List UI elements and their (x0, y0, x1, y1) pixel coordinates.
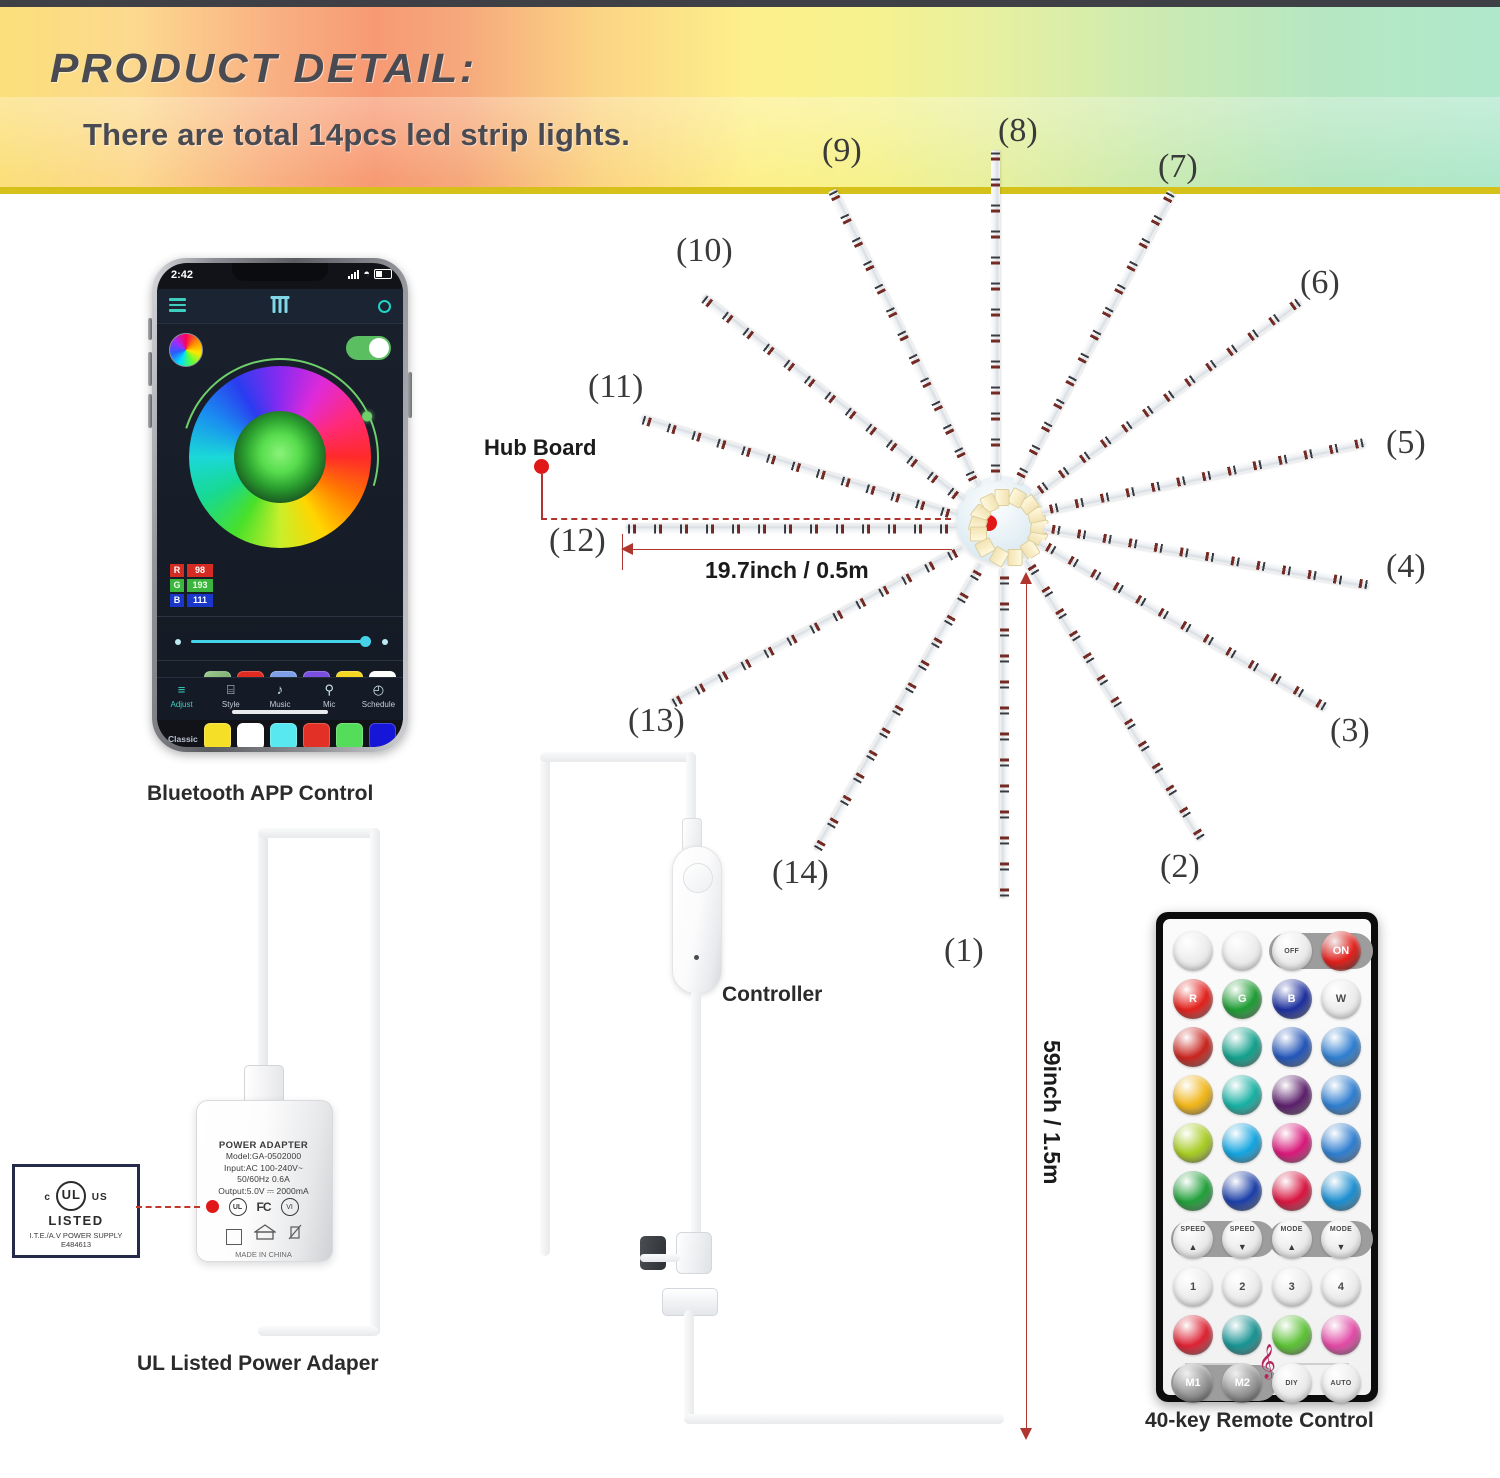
led-strip-11 (640, 415, 958, 520)
adapter-made-in: MADE IN CHINA (196, 1250, 331, 1259)
tab-label: Music (255, 700, 304, 709)
rgb-row-green: G 193 (170, 579, 213, 592)
button-label: B (1288, 993, 1296, 1005)
dim-short-label: 19.7inch / 0.5m (705, 557, 869, 584)
adapter-output: Output:5.0V ⎓ 2000mA (196, 1186, 331, 1198)
remote-caption: 40-key Remote Control (1145, 1409, 1374, 1433)
sliders-icon[interactable] (273, 296, 288, 313)
arrow-down-icon: ▼ (1321, 1242, 1361, 1252)
ul-badge-mark: c UL US (15, 1181, 137, 1211)
button-label: AUTO (1331, 1380, 1352, 1387)
effect-strobe-button[interactable] (1222, 1315, 1262, 1355)
hub-callout-line-h (541, 518, 951, 520)
remote-row-3 (1173, 1027, 1361, 1067)
remote-button-grid: OFFONRGBWSPEED▲SPEED▼MODE▲MODE▼1234M1M2D… (1173, 931, 1361, 1403)
rgb-row-blue: B 111 (170, 594, 213, 607)
music-mode-4-button[interactable]: 4 (1321, 1267, 1361, 1307)
color-blue2-button[interactable] (1272, 1027, 1312, 1067)
signal-icon (348, 270, 359, 279)
list-icon[interactable] (169, 298, 186, 315)
button-label: SPEED (1173, 1226, 1213, 1233)
divider (157, 660, 403, 661)
fcc-mark-icon: FC (257, 1200, 271, 1214)
color-cyan-button[interactable] (1222, 1123, 1262, 1163)
classic-label: Classic (168, 734, 198, 744)
controller-wire-left (540, 756, 550, 1256)
color-wheel-picker[interactable] (189, 366, 371, 548)
battery-icon (374, 269, 392, 279)
button-label: DIY (1285, 1380, 1298, 1387)
phone-caption: Bluetooth APP Control (147, 782, 373, 806)
ul-badge-callout-line (136, 1206, 200, 1208)
on-button[interactable]: ON (1321, 931, 1361, 971)
page-title: PRODUCT DETAIL: (50, 45, 477, 92)
product-detail-infographic: PRODUCT DETAIL: There are total 14pcs le… (0, 0, 1500, 1478)
hub-pad-1 (1008, 549, 1023, 566)
phone-notch (232, 263, 328, 281)
controller-wire-stub (640, 1254, 680, 1262)
brightness-slider[interactable] (191, 640, 369, 643)
ul-badge-ul: UL (56, 1181, 86, 1211)
adapter-cord-top (258, 828, 378, 838)
classic-swatch-6[interactable] (369, 723, 396, 747)
brightness-low-icon (171, 635, 185, 649)
diy-button[interactable]: DIY (1272, 1363, 1312, 1403)
remote-row-5 (1173, 1123, 1361, 1163)
dim-long-label: 59inch / 1.5m (1038, 1040, 1065, 1184)
led-strip-4 (1043, 523, 1370, 589)
inline-controller[interactable] (672, 846, 722, 994)
no-bin-icon (288, 1224, 302, 1245)
led-strip-14 (813, 563, 986, 853)
effect-smooth-button[interactable] (1321, 1315, 1361, 1355)
led-strip-9 (828, 188, 981, 489)
classic-swatch-4[interactable] (303, 723, 330, 747)
controller-wire-bottom (691, 990, 701, 1238)
strip-label-3: (3) (1330, 712, 1370, 750)
brightness-slider-row (157, 624, 403, 658)
phone-screen: 2:42 ◓ (157, 263, 403, 747)
adapter-cord-vertical (258, 832, 268, 1072)
button-label: 4 (1338, 1281, 1344, 1293)
page-subtitle: There are total 14pcs led strip lights. (83, 117, 630, 153)
phone-power-button (408, 372, 412, 418)
tab-label: Style (206, 700, 255, 709)
app-top-bar (157, 289, 403, 324)
status-time: 2:42 (171, 269, 193, 281)
music-mode-1-button[interactable]: 1 (1173, 1267, 1213, 1307)
blue-down-button[interactable] (1321, 1171, 1361, 1211)
arrow-down-icon: ▼ (1222, 1242, 1262, 1252)
green-up-button[interactable] (1321, 1075, 1361, 1115)
button-label: 3 (1289, 1281, 1295, 1293)
strip-label-9: (9) (822, 132, 862, 170)
rgb-readout: R 98 G 193 B 111 (170, 564, 213, 609)
home-indicator (232, 710, 328, 714)
music-note-icon: ♪ (255, 682, 304, 698)
classic-swatch-2[interactable] (237, 723, 264, 747)
tab-schedule[interactable]: ◴Schedule (354, 678, 403, 720)
strip-label-2: (2) (1160, 848, 1200, 886)
color-teal-button[interactable] (1222, 1027, 1262, 1067)
adapter-label-text: POWER ADAPTER Model:GA-0502000 Input:AC … (196, 1140, 331, 1197)
strip-label-14: (14) (772, 854, 829, 892)
red-button[interactable]: R (1173, 979, 1213, 1019)
strip-label-4: (4) (1386, 548, 1426, 586)
arrow-up-icon: ▲ (1173, 1242, 1213, 1252)
color-pink-button[interactable] (1272, 1171, 1312, 1211)
ul-badge-line3: I.T.E./A.V POWER SUPPLY (15, 1231, 137, 1240)
dim-long-line (1026, 578, 1027, 1438)
color-yellowgreen-button[interactable] (1173, 1123, 1213, 1163)
adapter-input-2: 50/60Hz 0.6A (196, 1174, 331, 1186)
dim-short-arrow (621, 543, 633, 555)
button-label: R (1189, 993, 1197, 1005)
effect-flash-button[interactable] (1173, 1315, 1213, 1355)
hub-board-label: Hub Board (484, 435, 596, 461)
app-body: R 98 G 193 B 111 (157, 324, 403, 720)
controller-wire-tail (684, 1310, 694, 1422)
speed-up-button[interactable]: SPEED▲ (1173, 1219, 1213, 1259)
controller-caption: Controller (722, 983, 822, 1007)
button-label: 2 (1239, 1281, 1245, 1293)
strip-label-11: (11) (588, 368, 643, 406)
class2-square-icon (226, 1229, 242, 1245)
rgb-b-key: B (170, 594, 184, 607)
effect-fade-button[interactable] (1272, 1315, 1312, 1355)
button-label: SPEED (1222, 1226, 1262, 1233)
ul-badge-listed: LISTED (15, 1213, 137, 1228)
red-up-button[interactable] (1321, 1027, 1361, 1067)
blue-button[interactable]: B (1272, 979, 1312, 1019)
led-strip-7 (1013, 190, 1176, 486)
ul-mark-icon: UL (229, 1198, 247, 1216)
tab-label: Mic (305, 700, 354, 709)
grid-icon: ⌸ (206, 682, 255, 698)
sliders-icon: ≡ (157, 682, 206, 698)
rgb-r-value: 98 (187, 564, 213, 577)
controller-power-button[interactable] (683, 863, 713, 893)
music-mode-3-button[interactable]: 3 (1272, 1267, 1312, 1307)
classic-swatch-1[interactable] (204, 723, 231, 747)
button-label: 1 (1190, 1281, 1196, 1293)
ir-remote-control: OFFONRGBWSPEED▲SPEED▼MODE▲MODE▼1234M1M2D… (1156, 912, 1378, 1402)
tab-label: Schedule (354, 700, 403, 709)
led-strip-2 (1023, 557, 1206, 842)
green-button[interactable]: G (1222, 979, 1262, 1019)
rgb-b-value: 111 (187, 594, 213, 607)
button-label: W (1336, 993, 1346, 1005)
tab-label: Adjust (157, 700, 206, 709)
adapter-model: Model:GA-0502000 (196, 1151, 331, 1163)
strip-label-6: (6) (1300, 264, 1340, 302)
microphone-icon: ⚲ (305, 682, 354, 698)
dc-plug-male (640, 1236, 666, 1270)
ul-badge-c: c (44, 1192, 51, 1203)
rgb-r-key: R (170, 564, 184, 577)
color-red2-button[interactable] (1173, 1027, 1213, 1067)
divider (157, 616, 403, 617)
mode-down-button[interactable]: MODE▼ (1321, 1219, 1361, 1259)
strip-label-8: (8) (998, 112, 1038, 150)
strip-label-12: (12) (549, 522, 606, 560)
memory-1-button[interactable]: M1 (1173, 1363, 1213, 1403)
white-button[interactable]: W (1321, 979, 1361, 1019)
off-button[interactable]: OFF (1272, 931, 1312, 971)
dc-jack-female (676, 1232, 712, 1274)
led-strip-1 (1000, 569, 1009, 899)
button-label: M2 (1235, 1377, 1250, 1389)
color-green2-button[interactable] (1173, 1171, 1213, 1211)
remote-row-2: RGBW (1173, 979, 1361, 1019)
current-color-preview (234, 411, 327, 504)
rgb-g-value: 193 (187, 579, 213, 592)
house-icon (254, 1224, 276, 1245)
strip-label-13: (13) (628, 702, 685, 740)
remote-row-1: OFFON (1173, 931, 1361, 971)
mode-up-button[interactable]: MODE▲ (1272, 1219, 1312, 1259)
controller-led-indicator (694, 955, 699, 960)
brightness-high-icon (378, 635, 392, 649)
wifi-icon: ◓ (363, 270, 370, 279)
rgb-g-key: G (170, 579, 184, 592)
power-dot-icon[interactable] (378, 300, 391, 313)
remote-row-8: 1234 (1173, 1267, 1361, 1307)
strip-label-10: (10) (676, 232, 733, 270)
strip-label-7: (7) (1158, 148, 1198, 186)
brightness-slider-knob[interactable] (360, 636, 371, 647)
button-label: G (1238, 993, 1247, 1005)
color-magenta-button[interactable] (1272, 1123, 1312, 1163)
remote-row-4 (1173, 1075, 1361, 1115)
remote-face: OFFONRGBWSPEED▲SPEED▼MODE▲MODE▼1234M1M2D… (1163, 919, 1371, 1395)
tab-adjust[interactable]: ≡Adjust (157, 678, 206, 720)
led-strip-12 (626, 525, 956, 534)
brightness-up-button[interactable] (1173, 931, 1213, 971)
ul-listed-badge: c UL US LISTED I.T.E./A.V POWER SUPPLY E… (12, 1164, 140, 1258)
color-blue3-button[interactable] (1222, 1171, 1262, 1211)
ul-badge-line4: E484613 (15, 1240, 137, 1249)
auto-button[interactable]: AUTO (1321, 1363, 1361, 1403)
hub-callout-dot (534, 459, 549, 474)
button-label: M1 (1185, 1377, 1200, 1389)
button-label: MODE (1272, 1226, 1312, 1233)
color-teal2-button[interactable] (1222, 1075, 1262, 1115)
led-strip-8 (991, 151, 1000, 481)
controller-wire-top (540, 752, 695, 762)
color-orange-button[interactable] (1173, 1075, 1213, 1115)
remote-row-6 (1173, 1171, 1361, 1211)
ul-badge-us: US (92, 1192, 108, 1203)
classic-swatch-5[interactable] (336, 723, 363, 747)
adapter-title: POWER ADAPTER (196, 1140, 331, 1151)
dim-long-arrow-top (1020, 572, 1032, 584)
dim-long-arrow-bottom (1020, 1428, 1032, 1440)
color-wheel-icon[interactable] (169, 333, 203, 367)
brightness-down-button[interactable] (1222, 931, 1262, 971)
ul-badge-callout-dot (206, 1200, 219, 1213)
efficiency-level-icon: VI (281, 1198, 299, 1216)
adapter-caption: UL Listed Power Adaper (137, 1352, 379, 1376)
blue-up-button[interactable] (1321, 1123, 1361, 1163)
rgb-row-red: R 98 (170, 564, 213, 577)
hub-board (956, 476, 1044, 564)
button-label: ON (1333, 945, 1350, 957)
clock-icon: ◴ (354, 682, 403, 698)
strip-label-1: (1) (944, 932, 984, 970)
strip-label-5: (5) (1386, 424, 1426, 462)
smartphone-mockup: 2:42 ◓ (152, 258, 408, 752)
controller-wire-to-hub (684, 1414, 1004, 1424)
adapter-cord-bottom (258, 1326, 378, 1336)
classic-swatch-3[interactable] (270, 723, 297, 747)
classic-swatch-row (204, 723, 396, 747)
adapter-input-1: Input:AC 100-240V~ (196, 1163, 331, 1175)
button-label: MODE (1321, 1226, 1361, 1233)
status-icons: ◓ (348, 269, 392, 279)
remote-row-7: SPEED▲SPEED▼MODE▲MODE▼ (1173, 1219, 1361, 1259)
hub-callout-line-v (541, 474, 543, 518)
color-purple-button[interactable] (1272, 1075, 1312, 1115)
arrow-up-icon: ▲ (1272, 1242, 1312, 1252)
power-toggle[interactable] (346, 336, 391, 360)
music-mode-2-button[interactable]: 2 (1222, 1267, 1262, 1307)
dim-short-line (622, 549, 952, 550)
button-label: OFF (1284, 948, 1299, 955)
adapter-cord-right (370, 828, 380, 1336)
